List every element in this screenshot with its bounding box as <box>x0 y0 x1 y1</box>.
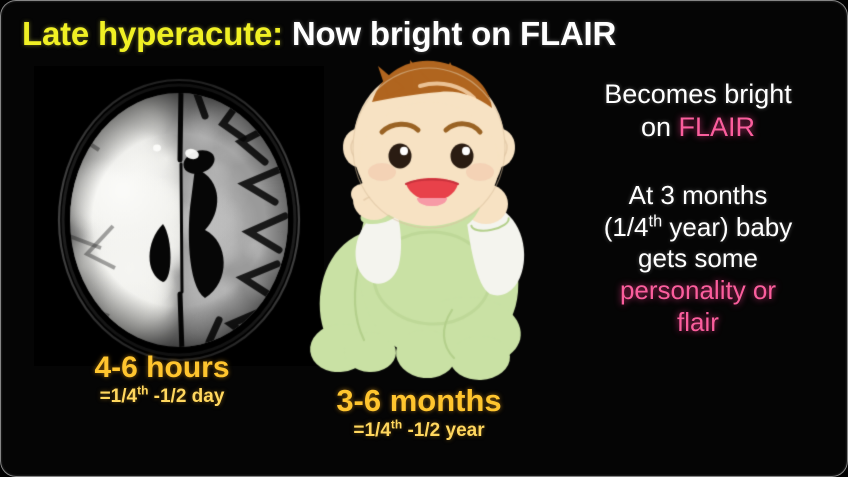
page-title: Late hyperacute: Now bright on FLAIR <box>22 12 826 56</box>
mri-caption-sub-sup: th <box>137 384 148 398</box>
flair-line-2-prefix: on <box>641 112 679 142</box>
mri-caption-sub-prefix: =1/4 <box>100 386 138 407</box>
mri-image <box>34 66 324 366</box>
mri-caption-main: 4-6 hours <box>36 352 288 383</box>
baby-illustration <box>300 52 550 402</box>
baby-caption: 3-6 months =1/4th -1/2 year <box>288 385 550 442</box>
mnemonic-line-2-suffix: year) baby <box>662 212 792 242</box>
mnemonic-line-2-sup: th <box>649 212 663 230</box>
mnemonic-line-3: gets some <box>552 243 844 275</box>
mnemonic-line-2: (1/4th year) baby <box>552 212 844 244</box>
mri-caption: 4-6 hours =1/4th -1/2 day <box>36 352 288 408</box>
cartoon-baby-icon <box>300 52 550 402</box>
baby-caption-sub: =1/4th -1/2 year <box>288 421 550 442</box>
flair-statement: Becomes bright on FLAIR <box>552 78 844 144</box>
mnemonic-line-2-prefix: (1/4 <box>604 212 649 242</box>
baby-caption-sub-sup: th <box>391 418 402 432</box>
axial-flair-mri-brain-icon <box>34 66 324 366</box>
slide-canvas: Late hyperacute: Now bright on FLAIR 4-6… <box>0 0 848 477</box>
title-highlight: Late hyperacute: <box>22 15 283 52</box>
mnemonic-statement: At 3 months (1/4th year) baby gets some … <box>552 180 844 339</box>
explanation-text: Becomes bright on FLAIR At 3 months (1/4… <box>552 78 844 338</box>
mnemonic-line-5: flair <box>552 307 844 339</box>
baby-caption-sub-suffix: -1/2 year <box>402 420 484 441</box>
mri-caption-sub-suffix: -1/2 day <box>148 386 224 407</box>
flair-keyword: FLAIR <box>679 112 756 142</box>
mri-caption-sub: =1/4th -1/2 day <box>36 387 288 408</box>
baby-caption-main: 3-6 months <box>288 385 550 417</box>
baby-caption-sub-prefix: =1/4 <box>353 420 391 441</box>
flair-line-1: Becomes bright <box>552 78 844 111</box>
title-rest: Now bright on FLAIR <box>283 15 616 52</box>
flair-line-2: on FLAIR <box>552 111 844 144</box>
mnemonic-line-4: personality or <box>552 275 844 307</box>
mnemonic-line-1: At 3 months <box>552 180 844 212</box>
